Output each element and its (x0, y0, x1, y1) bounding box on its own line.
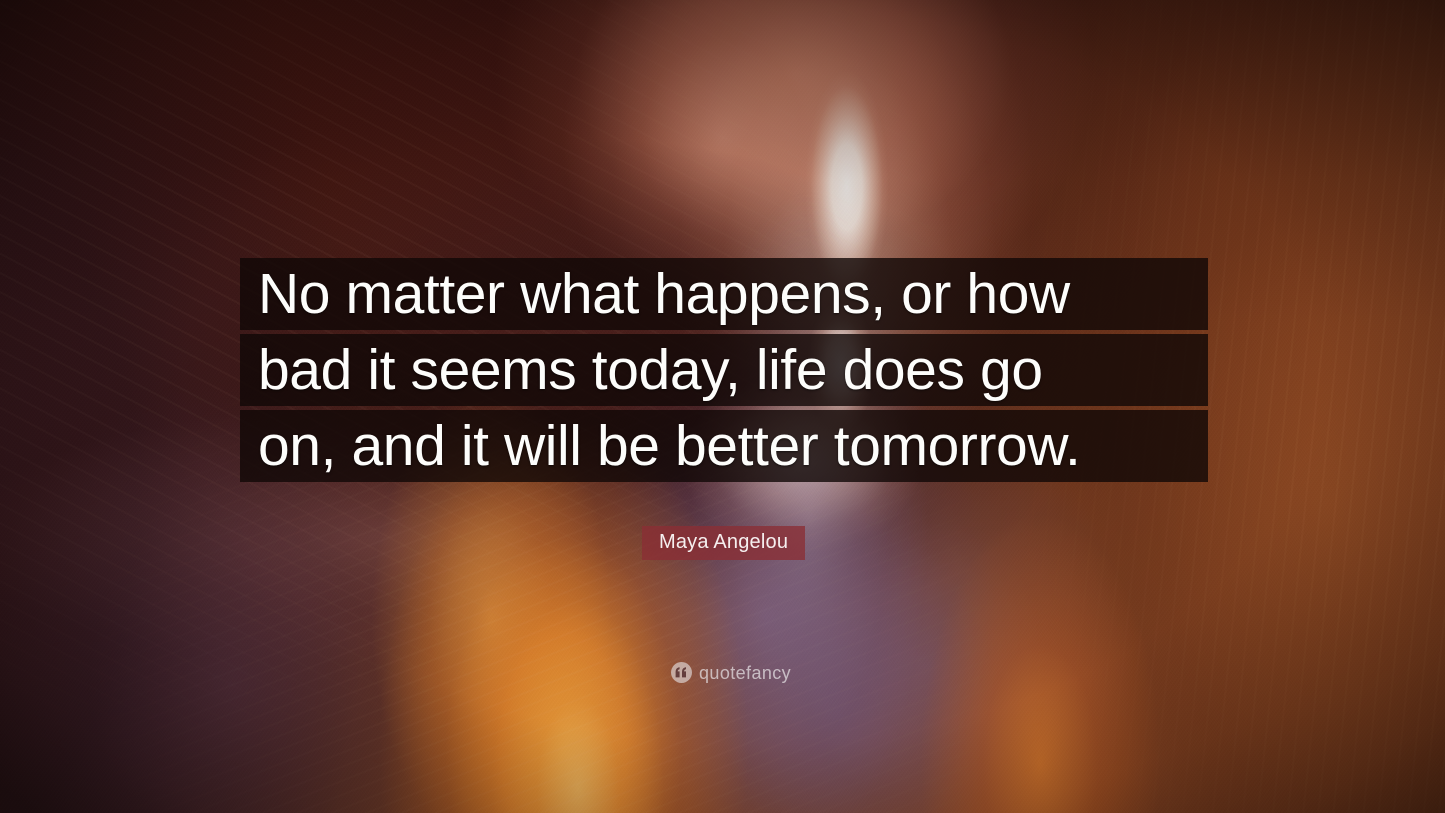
quote-banner: No matter what happens, or how bad it se… (240, 258, 1208, 482)
quote-line-2: bad it seems today, life does go (240, 334, 1208, 406)
quote-mark-icon (671, 662, 692, 683)
quote-line-1: No matter what happens, or how (240, 258, 1208, 330)
watermark-brand: quotefancy (699, 664, 791, 682)
author-attribution: Maya Angelou (642, 526, 805, 560)
watermark[interactable]: quotefancy (671, 662, 791, 683)
quote-line-3: on, and it will be better tomorrow. (240, 410, 1208, 482)
quote-wallpaper: No matter what happens, or how bad it se… (0, 0, 1445, 813)
